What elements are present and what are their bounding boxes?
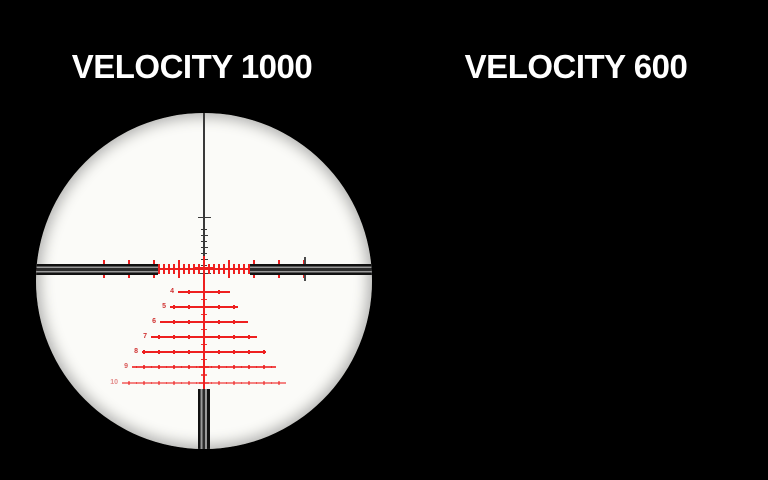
tree-row-tick [218, 381, 220, 385]
vertical-hash-mark [201, 253, 207, 254]
tree-stem-half-tick [201, 374, 207, 376]
tree-row-tick [211, 366, 213, 369]
tree-row-tick [143, 350, 145, 354]
tree-row-tick [166, 366, 168, 369]
tree-row-tick [181, 321, 183, 324]
horizontal-tick [223, 264, 225, 274]
tree-row-tick [166, 321, 168, 324]
tree-row-tick [151, 366, 153, 369]
tree-row-tick [196, 321, 198, 324]
tree-row-tick [263, 381, 265, 385]
tree-row-tick [226, 336, 228, 339]
horizontal-tick [183, 264, 185, 274]
tree-row-tick [211, 321, 213, 324]
tree-row-tick [196, 351, 198, 354]
tree-row-tick [218, 305, 220, 309]
tree-row-tick [226, 291, 228, 294]
horizontal-tick [218, 264, 220, 274]
panel-velocity-1000: VELOCITY 1000 45678910 [0, 0, 384, 480]
scope-view-left: 45678910 [36, 113, 372, 449]
tree-row-tick [271, 382, 273, 385]
tree-row-tick [143, 381, 145, 385]
tree-row-tick [173, 381, 175, 385]
tree-row-tick [196, 366, 198, 369]
tree-row-tick [188, 320, 190, 324]
horizontal-tick [173, 264, 175, 274]
tree-stem [203, 268, 206, 398]
tree-row-tick [226, 351, 228, 354]
tree-row-tick [263, 350, 265, 354]
tree-stem-tick [199, 306, 209, 309]
tree-row-tick [241, 321, 243, 324]
tree-row-tick [196, 291, 198, 294]
tree-row-tick [233, 381, 235, 385]
tree-row-tick [256, 351, 258, 354]
vertical-hash-mark [201, 241, 207, 242]
tree-row-tick [218, 290, 220, 294]
tree-row-tick [173, 350, 175, 354]
tree-row-tick [233, 350, 235, 354]
thick-post-bottom [198, 389, 210, 449]
tree-row-tick [181, 366, 183, 369]
tree-stem-tick [199, 336, 209, 339]
tree-row-label: 5 [151, 303, 166, 310]
tree-row-tick [166, 351, 168, 354]
tree-row-tick [226, 306, 228, 309]
panel-title-right: VELOCITY 600 [384, 47, 768, 87]
tree-row-tick [211, 351, 213, 354]
tree-row-tick [248, 350, 250, 354]
tree-row-tick [158, 350, 160, 354]
horizontal-tick [243, 264, 245, 274]
tree-row-tick [166, 336, 168, 339]
tree-stem-half-tick [201, 359, 207, 361]
tree-row-tick [181, 306, 183, 309]
tree-row-label: 10 [103, 379, 118, 386]
tree-row-tick [241, 351, 243, 354]
tree-row-tick [271, 366, 273, 369]
tree-row-tick [248, 365, 250, 369]
tree-row-tick [181, 291, 183, 294]
tree-row-tick [248, 335, 250, 339]
tree-row-label: 6 [141, 318, 156, 325]
tree-row-tick [233, 335, 235, 339]
tree-row-tick [181, 351, 183, 354]
horizontal-tick [188, 264, 190, 274]
tree-row-tick [158, 335, 160, 339]
horizontal-tick [178, 260, 180, 278]
tree-stem-tick [199, 291, 209, 294]
horizontal-tick [238, 264, 240, 274]
tree-row-tick [218, 320, 220, 324]
tree-row-label: 7 [132, 333, 147, 340]
vertical-hash-mark [201, 229, 207, 230]
tree-row-tick [241, 382, 243, 385]
tree-stem-tick [199, 382, 209, 385]
tree-stem-half-tick [201, 344, 207, 346]
tree-row-tick [256, 336, 258, 339]
vertical-hash-mark [201, 235, 208, 236]
horizontal-tick [233, 264, 235, 274]
tree-row-tick [226, 321, 228, 324]
tree-row-tick [233, 365, 235, 369]
tree-row-tick [188, 365, 190, 369]
tree-row-tick [211, 291, 213, 294]
tree-row-tick [173, 320, 175, 324]
panel-velocity-600: VELOCITY 600 3456 [384, 0, 768, 480]
horizontal-tick [168, 264, 170, 274]
thick-post-right [250, 264, 372, 275]
tree-row-tick [211, 336, 213, 339]
tree-row-tick [136, 382, 138, 385]
tree-row-tick [128, 381, 130, 385]
tree-row-tick [158, 381, 160, 385]
tree-row-tick [143, 365, 145, 369]
tree-row-tick [181, 336, 183, 339]
tree-row-tick [211, 306, 213, 309]
horizontal-tick [158, 264, 160, 274]
tree-row-tick [151, 351, 153, 354]
tree-row-tick [226, 382, 228, 385]
tree-row-tick [166, 382, 168, 385]
tree-row-tick [226, 366, 228, 369]
tree-row-tick [188, 335, 190, 339]
tree-stem-half-tick [201, 299, 207, 301]
tree-row-tick [218, 335, 220, 339]
tree-row-tick [188, 381, 190, 385]
tree-row-tick [218, 350, 220, 354]
tree-row-tick [196, 336, 198, 339]
tree-stem-tick [199, 351, 209, 354]
tree-row-tick [218, 365, 220, 369]
tree-row-tick [151, 336, 153, 339]
tree-stem-half-tick [201, 314, 207, 316]
tree-row-tick [233, 305, 235, 309]
tree-row-tick [173, 305, 175, 309]
tree-row-tick [158, 365, 160, 369]
tree-row-label: 4 [159, 288, 174, 295]
vertical-hash-mark [201, 247, 208, 248]
tree-row-tick [196, 306, 198, 309]
tree-row-tick [151, 382, 153, 385]
tree-row-tick [263, 365, 265, 369]
horizontal-tick [228, 260, 230, 278]
tree-row-tick [256, 366, 258, 369]
tree-row-tick [241, 366, 243, 369]
tree-stem-tick [199, 366, 209, 369]
vertical-crosshair-upper [203, 113, 204, 268]
horizontal-tick [163, 264, 165, 274]
tree-row-tick [173, 335, 175, 339]
tree-stem-half-tick [201, 329, 207, 331]
tree-row-label: 8 [123, 348, 138, 355]
thick-post-left [36, 264, 158, 275]
tree-row-tick [188, 290, 190, 294]
tree-row-tick [173, 365, 175, 369]
tree-row-label: 9 [113, 363, 128, 370]
panel-title-left: VELOCITY 1000 [0, 47, 384, 87]
tree-row-tick [181, 382, 183, 385]
vertical-hash-mark [198, 217, 211, 218]
tree-row-tick [188, 305, 190, 309]
tree-row-tick [136, 366, 138, 369]
tree-row-tick [241, 336, 243, 339]
tree-row-tick [248, 381, 250, 385]
reticle-comparison-stage: VELOCITY 1000 45678910 VELOCITY 600 3456 [0, 0, 768, 480]
tree-row-tick [278, 381, 280, 385]
tree-row-tick [196, 382, 198, 385]
tree-row-tick [233, 320, 235, 324]
tree-stem-tick [199, 321, 209, 324]
tree-row-tick [256, 382, 258, 385]
tree-row-tick [188, 350, 190, 354]
tree-row-tick [211, 382, 213, 385]
